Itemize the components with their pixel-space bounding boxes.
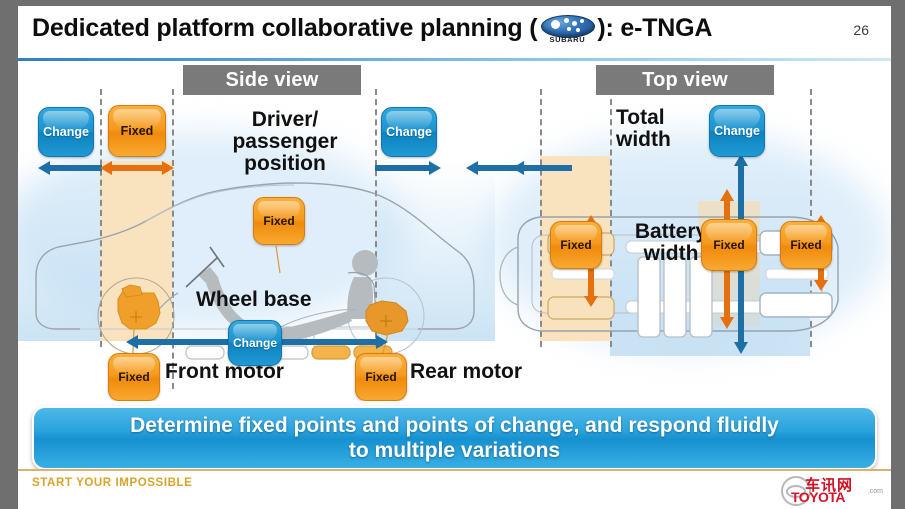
- summary-line-2: to multiple variations: [130, 438, 779, 463]
- badge-fixed-driver-position[interactable]: Fixed: [253, 197, 305, 245]
- footer-tagline: START YOUR IMPOSSIBLE: [32, 477, 192, 489]
- slide-footer: [18, 469, 891, 509]
- side-front-motor-span-arrow: [100, 161, 174, 175]
- page-title-post: ): e-TNGA: [597, 14, 712, 42]
- badge-fixed-rear-motor[interactable]: Fixed: [355, 353, 407, 401]
- toyota-logo: 车讯网 TOYOTA .com: [783, 472, 883, 504]
- wheel-base-label: Wheel base: [196, 289, 312, 311]
- slide-frame-left: [0, 0, 18, 509]
- rear-motor-label: Rear motor: [410, 361, 522, 383]
- badge-change-cabin-rear[interactable]: Change: [381, 107, 437, 157]
- badge-fixed-left-rail[interactable]: Fixed: [550, 221, 602, 269]
- driver-position-line2: passenger position: [190, 131, 380, 175]
- toyota-wordmark: TOYOTA: [791, 489, 845, 505]
- page-number: 26: [853, 22, 869, 38]
- badge-change-wheel-base[interactable]: Change: [228, 320, 282, 366]
- summary-banner: Determine fixed points and points of cha…: [32, 406, 877, 470]
- badge-fixed-front-motor-zone[interactable]: Fixed: [108, 105, 166, 157]
- badge-change-front-overhang[interactable]: Change: [38, 107, 94, 157]
- diagram-canvas: Side view Top view: [18, 61, 891, 401]
- badge-fixed-front-motor[interactable]: Fixed: [108, 353, 160, 401]
- total-width-label: Total width: [616, 107, 671, 151]
- page-title-pre: Dedicated platform collaborative plannin…: [32, 14, 537, 42]
- top-left-width-arrow: [512, 161, 572, 175]
- watermark-suffix: .com: [868, 488, 883, 495]
- side-front-overhang-arrow: [38, 161, 102, 175]
- badge-change-total-width[interactable]: Change: [709, 105, 765, 157]
- driver-position-line1: Driver/: [190, 109, 380, 131]
- subaru-logo: SUBARU: [539, 15, 595, 45]
- page-title: Dedicated platform collaborative plannin…: [32, 14, 712, 45]
- badge-fixed-right-rail[interactable]: Fixed: [780, 221, 832, 269]
- driver-position-label: Driver/ passenger position: [190, 109, 380, 175]
- badge-fixed-battery-edge[interactable]: Fixed: [701, 219, 757, 271]
- slide: Dedicated platform collaborative plannin…: [0, 0, 905, 509]
- summary-banner-text: Determine fixed points and points of cha…: [130, 413, 779, 463]
- footer-rule: [18, 469, 891, 471]
- subaru-wordmark: SUBARU: [539, 35, 595, 44]
- summary-line-1: Determine fixed points and points of cha…: [130, 413, 779, 438]
- slide-frame-right: [891, 0, 905, 509]
- total-width-line1: Total: [616, 107, 671, 129]
- slide-header: Dedicated platform collaborative plannin…: [18, 6, 891, 58]
- side-rear-cabin-arrow-right: [375, 161, 441, 175]
- total-width-line2: width: [616, 129, 671, 151]
